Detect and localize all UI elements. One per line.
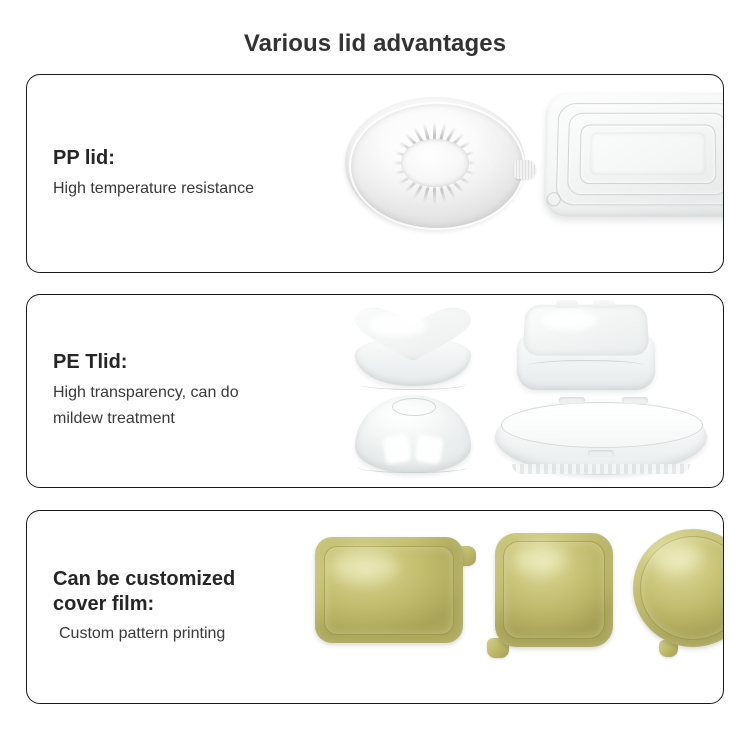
round-ribbed-pp-lid-image [345, 97, 525, 229]
square-pe-lid-image [517, 303, 655, 395]
pe-dome-facet-right [415, 434, 444, 464]
pp-rect-center-panel [590, 133, 706, 175]
pe-dome-facet-left [382, 434, 411, 464]
gold-rect-sheen [330, 550, 398, 582]
card-cover-film-text: Can be customized cover film: Custom pat… [27, 567, 327, 647]
pe-oval-top [501, 402, 702, 448]
card-cover-film-heading: Can be customized cover film: [53, 567, 327, 617]
card-pe-lid-description: High transparency, can do mildew treatme… [53, 380, 327, 432]
card-cover-film-inner: Can be customized cover film: Custom pat… [27, 511, 723, 703]
pe-oval-notch-three [588, 450, 614, 457]
dome-pe-lid-image [355, 395, 471, 473]
card-pp-lid-heading: PP lid: [53, 146, 327, 171]
rectangular-pp-lid-image [543, 93, 724, 217]
gold-round-sheen [649, 541, 702, 572]
pe-square-tab-left [556, 300, 578, 308]
pp-round-center-hub [401, 139, 469, 187]
page-title: Various lid advantages [0, 16, 750, 59]
pe-oval-notch-two [622, 397, 648, 404]
pe-dome-base [358, 462, 467, 473]
card-cover-film-images [327, 511, 723, 703]
pp-round-pull-tab [514, 160, 536, 179]
card-pe-lid-images [327, 295, 723, 487]
card-cover-film: Can be customized cover film: Custom pat… [26, 510, 724, 704]
round-gold-foil-lid-image [633, 529, 724, 647]
heart-shaped-pe-lid-image [349, 305, 477, 393]
card-cover-film-description: Custom pattern printing [53, 621, 327, 647]
oval-pe-lid-image [495, 399, 707, 475]
card-pp-lid-images [327, 75, 723, 272]
card-pe-lid-inner: PE Tlid: High transparency, can do milde… [27, 295, 723, 487]
rectangular-gold-foil-lid-image [315, 537, 463, 643]
card-pp-lid: PP lid: High temperature resistance [26, 74, 724, 273]
pe-square-highlight [542, 310, 597, 330]
card-pp-lid-description: High temperature resistance [53, 176, 327, 202]
gold-square-sheen [512, 544, 566, 574]
pe-dome-top-circle [392, 398, 436, 416]
pe-heart-highlight [369, 314, 425, 337]
square-gold-foil-lid-image [495, 533, 613, 647]
card-pe-lid: PE Tlid: High transparency, can do milde… [26, 294, 724, 488]
pe-heart-lip [359, 378, 467, 390]
pe-oval-notch-one [559, 397, 585, 404]
card-pe-lid-heading: PE Tlid: [53, 350, 327, 375]
card-pp-lid-inner: PP lid: High temperature resistance [27, 75, 723, 272]
card-pp-lid-text: PP lid: High temperature resistance [27, 146, 327, 202]
pe-square-tab-right [593, 300, 615, 308]
card-pe-lid-text: PE Tlid: High transparency, can do milde… [27, 350, 327, 432]
pe-oval-serrated-base [512, 464, 690, 473]
